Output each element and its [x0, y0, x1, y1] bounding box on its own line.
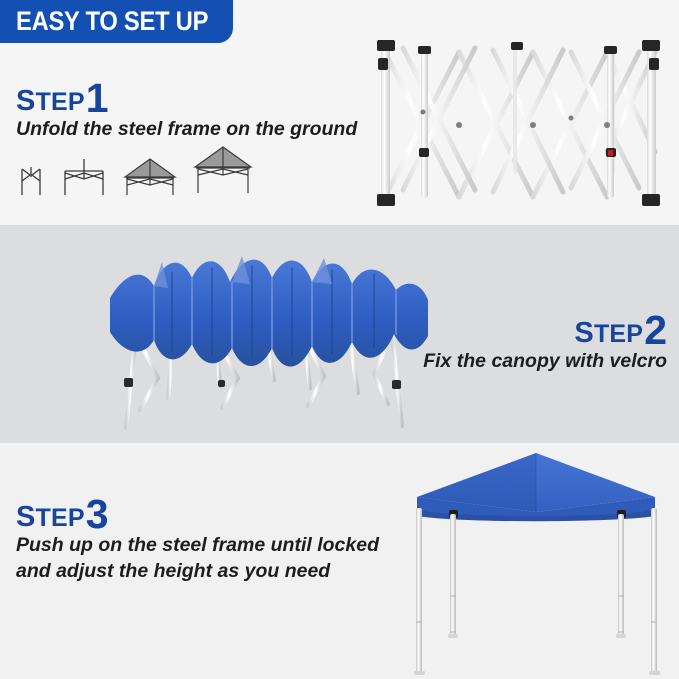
step-3-description-line-2: and adjust the height as you need: [16, 559, 379, 585]
step-2-heading: STEP 2: [423, 308, 667, 349]
banner-label: EASY TO SET UP: [16, 8, 208, 35]
step-1-description-line-1: Unfold the steel frame on the ground: [16, 117, 357, 143]
canopy-stage-4-canopy-raised-icon: [192, 143, 254, 202]
easy-to-set-up-banner: EASY TO SET UP: [0, 0, 233, 43]
step-3-word-cap: S: [16, 501, 36, 533]
step-3-text-block: STEP 3 Push up on the steel frame until …: [16, 492, 379, 584]
setup-progress-icon-row: [16, 143, 254, 202]
step-3-number: 3: [86, 494, 109, 535]
step-3-word: STEP: [16, 503, 85, 532]
step-2-word-cap: S: [574, 317, 594, 349]
canopy-stage-1-folded-frame-icon: [16, 147, 46, 202]
canopy-stage-2-opened-frame-icon: [60, 147, 108, 202]
step-3-word-rest: TEP: [36, 504, 85, 532]
step-1-number: 1: [86, 78, 109, 119]
step-2-description-line-1: Fix the canopy with velcro: [423, 349, 667, 375]
infographic-page: STEP 1 Unfold the steel frame on the gro…: [0, 0, 679, 679]
illustration-folded-steel-frame: [363, 22, 673, 217]
step-2-text-block: STEP 2 Fix the canopy with velcro: [423, 308, 667, 375]
step-1-word-rest: TEP: [36, 88, 85, 116]
illustration-assembled-blue-canopy-tent: [399, 450, 677, 679]
step-2-word-rest: TEP: [594, 320, 643, 348]
illustration-draped-blue-canopy: [96, 238, 440, 443]
step-1-text-block: STEP 1 Unfold the steel frame on the gro…: [16, 76, 357, 143]
step-2-number: 2: [644, 310, 667, 351]
step-1-word-cap: S: [16, 85, 36, 117]
canopy-stage-3-canopy-low-icon: [122, 147, 178, 202]
step-1-heading: STEP 1: [16, 76, 357, 117]
step-3-description-line-1: Push up on the steel frame until locked: [16, 533, 379, 559]
step-1-word: STEP: [16, 87, 85, 116]
step-2-word: STEP: [574, 319, 643, 348]
step-3-heading: STEP 3: [16, 492, 379, 533]
